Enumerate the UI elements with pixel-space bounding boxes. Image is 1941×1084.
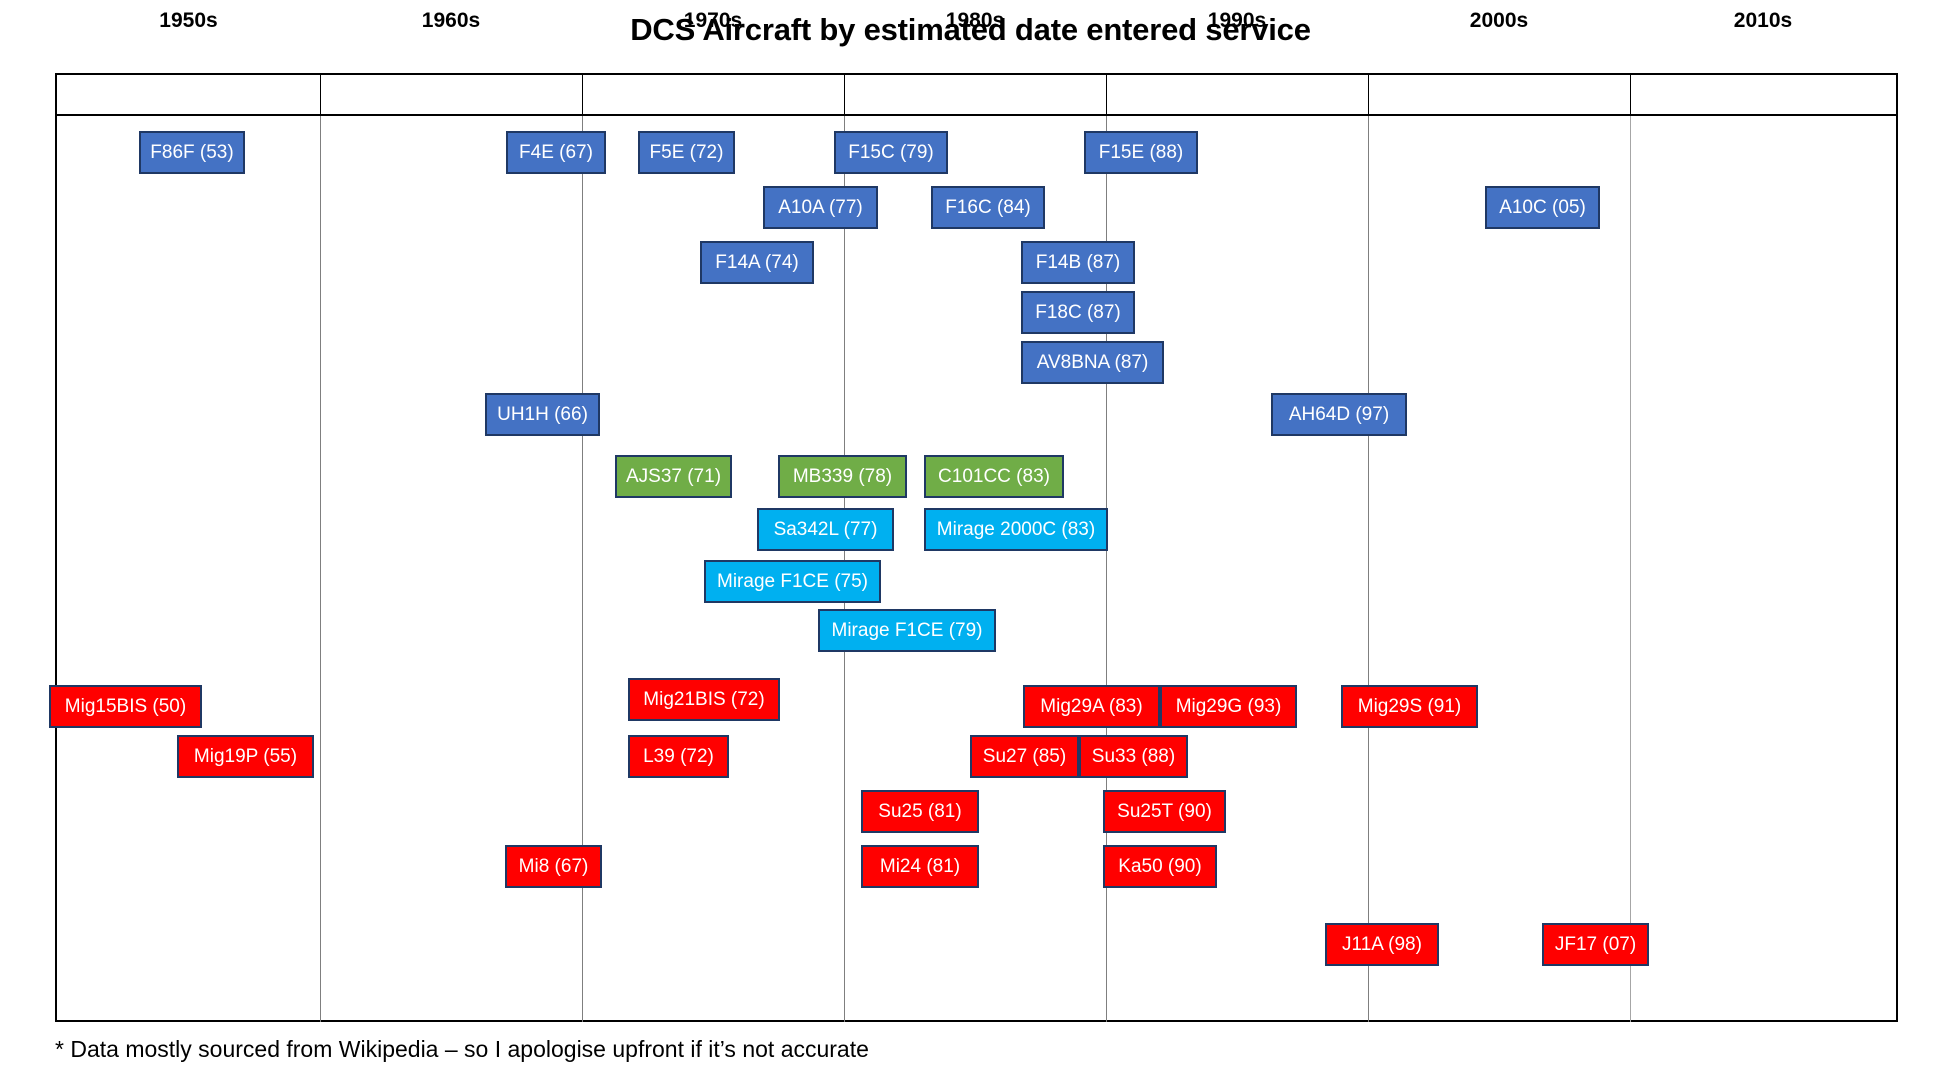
aircraft-box[interactable]: Su27 (85) [970,735,1079,778]
aircraft-box[interactable]: F15E (88) [1084,131,1198,174]
aircraft-box[interactable]: F5E (72) [638,131,735,174]
aircraft-box[interactable]: F18C (87) [1021,291,1135,334]
aircraft-box[interactable]: Mig29S (91) [1341,685,1478,728]
aircraft-box[interactable]: JF17 (07) [1542,923,1649,966]
aircraft-box[interactable]: Mig15BIS (50) [49,685,202,728]
aircraft-box[interactable]: AH64D (97) [1271,393,1407,436]
decade-header-2010s: 2010s [1630,0,1896,41]
aircraft-box[interactable]: AJS37 (71) [615,455,732,498]
aircraft-box[interactable]: Mig29A (83) [1023,685,1160,728]
aircraft-box[interactable]: Su33 (88) [1079,735,1188,778]
aircraft-box[interactable]: Mirage 2000C (83) [924,508,1108,551]
decade-header-1960s: 1960s [320,0,582,41]
aircraft-box[interactable]: Mirage F1CE (79) [818,609,996,652]
aircraft-box[interactable]: Su25 (81) [861,790,979,833]
header-separator-1990s [1106,73,1107,116]
aircraft-box[interactable]: UH1H (66) [485,393,600,436]
decade-header-1980s: 1980s [844,0,1106,41]
gridline-2010s [1630,116,1631,1022]
aircraft-box[interactable]: Ka50 (90) [1103,845,1217,888]
aircraft-box[interactable]: F16C (84) [931,186,1045,229]
aircraft-box[interactable]: A10C (05) [1485,186,1600,229]
aircraft-box[interactable]: Mig29G (93) [1160,685,1297,728]
header-separator-1970s [582,73,583,116]
decade-header-1990s: 1990s [1106,0,1368,41]
header-separator-2010s [1630,73,1631,116]
gridline-1960s [320,116,321,1022]
aircraft-box[interactable]: Mi8 (67) [505,845,602,888]
aircraft-box[interactable]: Su25T (90) [1103,790,1226,833]
aircraft-box[interactable]: Mi24 (81) [861,845,979,888]
aircraft-box[interactable]: Mig21BIS (72) [628,678,780,721]
aircraft-box[interactable]: Sa342L (77) [757,508,894,551]
decade-header-1970s: 1970s [582,0,844,41]
header-separator-1980s [844,73,845,116]
decade-header-1950s: 1950s [57,0,320,41]
aircraft-box[interactable]: C101CC (83) [924,455,1064,498]
aircraft-box[interactable]: AV8BNA (87) [1021,341,1164,384]
aircraft-box[interactable]: A10A (77) [763,186,878,229]
aircraft-box[interactable]: Mirage F1CE (75) [704,560,881,603]
aircraft-box[interactable]: L39 (72) [628,735,729,778]
aircraft-box[interactable]: MB339 (78) [778,455,907,498]
timeline-chart-page: DCS Aircraft by estimated date entered s… [0,0,1941,1084]
gridline-2000s [1368,116,1369,1022]
header-separator-1960s [320,73,321,116]
aircraft-box[interactable]: F86F (53) [139,131,245,174]
aircraft-box[interactable]: F4E (67) [506,131,606,174]
decade-header-2000s: 2000s [1368,0,1630,41]
aircraft-box[interactable]: F15C (79) [834,131,948,174]
source-footnote: * Data mostly sourced from Wikipedia – s… [55,1036,869,1063]
aircraft-box[interactable]: F14A (74) [700,241,814,284]
header-separator-2000s [1368,73,1369,116]
aircraft-box[interactable]: F14B (87) [1021,241,1135,284]
aircraft-box[interactable]: J11A (98) [1325,923,1439,966]
aircraft-box[interactable]: Mig19P (55) [177,735,314,778]
